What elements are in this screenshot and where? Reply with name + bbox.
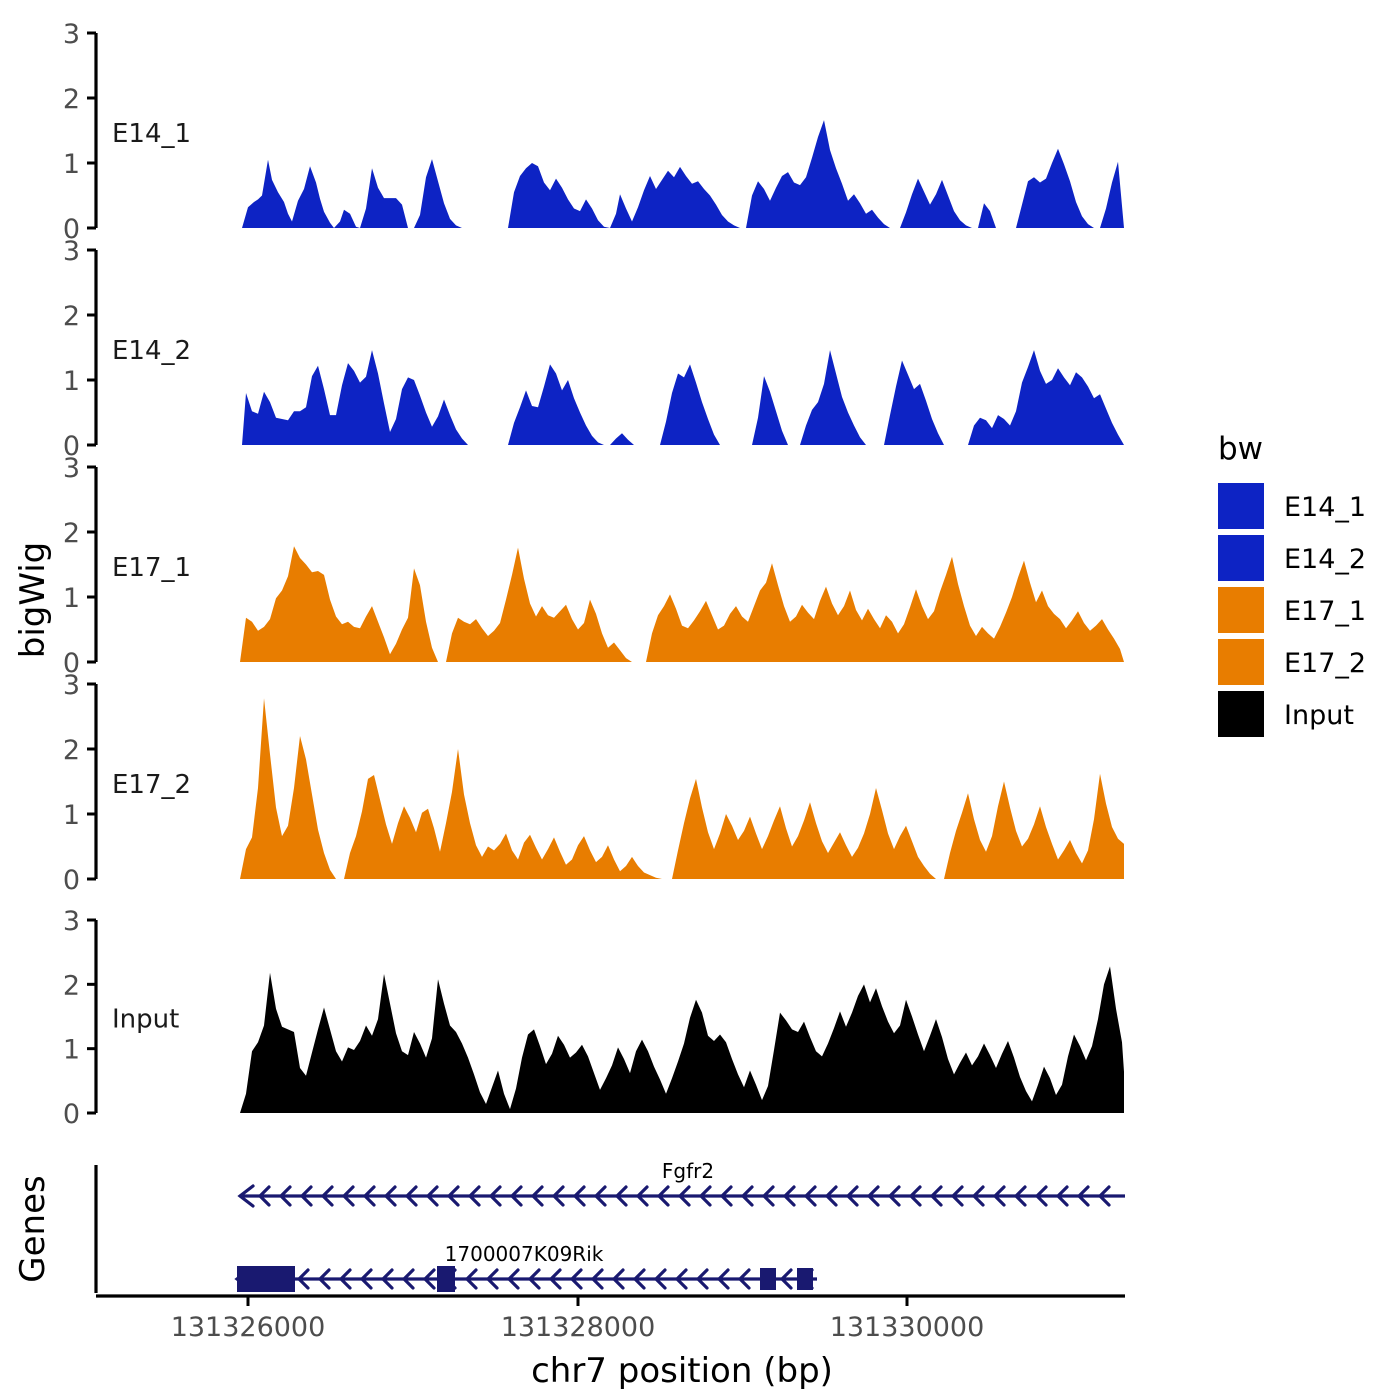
signal-area-e14_2-3 <box>752 376 788 445</box>
signal-area-e17_2-2 <box>672 779 936 879</box>
y-tick-label-e17_2-1: 1 <box>63 800 80 831</box>
legend-title: bw <box>1218 431 1263 467</box>
y-tick-label-e17_2-0: 0 <box>63 865 80 896</box>
bigwig-genome-browser-figure: 0123E14_10123E14_20123E17_10123E17_20123… <box>0 0 1400 1400</box>
y-tick-label-e14_2-1: 1 <box>63 366 80 397</box>
y-tick-label-e17_1-1: 1 <box>63 583 80 614</box>
genes-axis-title: Genes <box>13 1175 53 1282</box>
y-tick-label-e14_2-2: 2 <box>63 301 80 332</box>
gene-exon-block <box>760 1268 776 1290</box>
y-tick-label-e17_2-3: 3 <box>63 670 80 701</box>
x-tick-label-131328000: 131328000 <box>501 1312 656 1343</box>
y-tick-label-e17_1-2: 2 <box>63 518 80 549</box>
signal-area-e14_1-4 <box>978 203 996 228</box>
panel-tag-e17_1: E17_1 <box>112 553 191 583</box>
signal-area-e17_1-2 <box>646 557 1124 662</box>
signal-area-e17_2-3 <box>944 774 1124 879</box>
legend-label-e14_2: E14_2 <box>1284 544 1366 575</box>
gene-track-Fgfr2: Fgfr2 <box>240 1159 1125 1206</box>
signal-area-e14_2-6 <box>968 350 1124 445</box>
y-tick-label-input-2: 2 <box>63 970 80 1001</box>
y-tick-label-input-3: 3 <box>63 906 80 937</box>
y-axis-title: bigWig <box>13 542 53 659</box>
y-tick-label-input-0: 0 <box>63 1099 80 1130</box>
gene-exon-block <box>797 1268 813 1290</box>
panel-tag-e14_1: E14_1 <box>112 119 191 149</box>
signal-area-e14_1-6 <box>1100 162 1124 228</box>
y-tick-label-e17_2-2: 2 <box>63 735 80 766</box>
legend-swatch-e14_1[interactable] <box>1218 483 1264 529</box>
x-tick-label-131330000: 131330000 <box>830 1312 985 1343</box>
y-tick-label-input-1: 1 <box>63 1035 80 1066</box>
signal-area-e14_1-0 <box>242 159 466 228</box>
y-tick-label-e14_1-1: 1 <box>63 149 80 180</box>
signal-area-e14_1-3 <box>900 179 972 228</box>
legend-label-e17_1: E17_1 <box>1284 596 1366 627</box>
signal-area-e14_2-0 <box>242 350 468 445</box>
legend-label-input: Input <box>1284 700 1354 731</box>
gene-track-1700007K09Rik: 1700007K09Rik <box>237 1242 817 1292</box>
panel-tag-e17_2: E17_2 <box>112 770 191 800</box>
panel-tag-input: Input <box>112 1005 179 1035</box>
panel-tag-e14_2: E14_2 <box>112 336 191 366</box>
y-tick-label-e17_1-3: 3 <box>63 453 80 484</box>
signal-area-e14_2-2 <box>660 364 720 445</box>
signal-area-e17_2-1 <box>344 749 662 879</box>
legend-swatch-e17_2[interactable] <box>1218 639 1264 685</box>
legend-swatch-e17_1[interactable] <box>1218 587 1264 633</box>
gene-exon-block <box>237 1266 295 1292</box>
y-tick-label-e14_1-2: 2 <box>63 84 80 115</box>
x-tick-label-131326000: 131326000 <box>171 1312 326 1343</box>
signal-area-e14_2-4 <box>800 350 866 445</box>
signal-area-e17_1-1 <box>446 548 632 662</box>
legend-swatch-e14_2[interactable] <box>1218 535 1264 581</box>
gene-label-1700007K09Rik: 1700007K09Rik <box>445 1242 604 1266</box>
gene-exon-block <box>437 1266 455 1292</box>
gene-label-Fgfr2: Fgfr2 <box>662 1159 714 1183</box>
signal-area-e17_2-0 <box>240 698 336 879</box>
signal-area-input-0 <box>240 966 1124 1113</box>
legend-label-e17_2: E17_2 <box>1284 648 1366 679</box>
y-tick-label-e14_2-3: 3 <box>63 236 80 267</box>
signal-area-e14_2-5 <box>884 361 944 446</box>
x-axis-title: chr7 position (bp) <box>531 1351 833 1391</box>
signal-area-e14_1-1 <box>508 163 740 228</box>
figure-root: 0123E14_10123E14_20123E17_10123E17_20123… <box>0 0 1400 1400</box>
legend-swatch-input[interactable] <box>1218 691 1264 737</box>
signal-area-e17_1-0 <box>240 546 438 662</box>
signal-area-e14_1-5 <box>1016 149 1094 228</box>
signal-area-e14_2-1 <box>508 364 634 445</box>
legend-label-e14_1: E14_1 <box>1284 492 1366 523</box>
y-tick-label-e14_1-3: 3 <box>63 19 80 50</box>
signal-area-e14_1-2 <box>746 120 890 228</box>
